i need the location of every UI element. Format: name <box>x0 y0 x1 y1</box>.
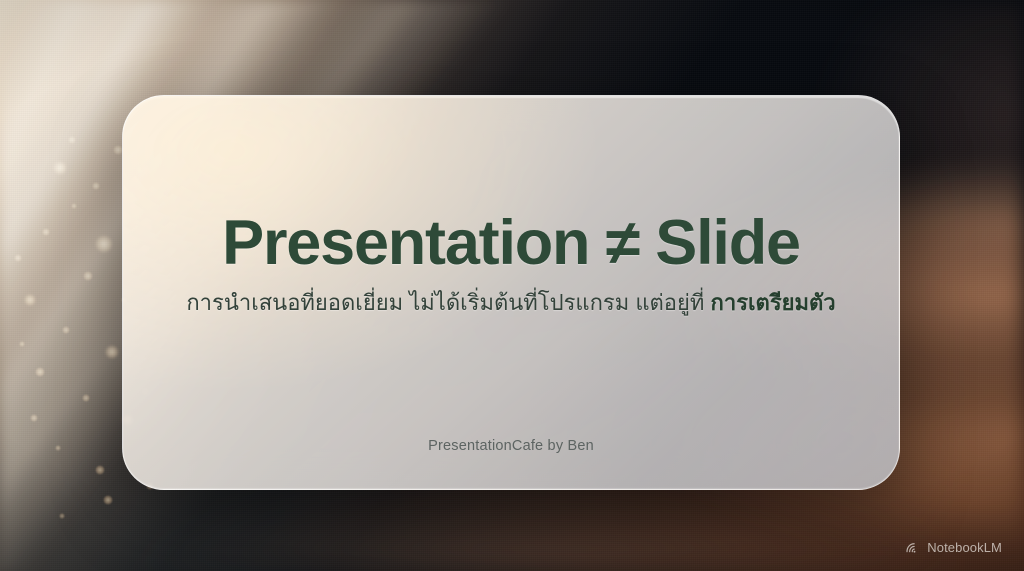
notebooklm-label: NotebookLM <box>927 540 1002 555</box>
card-content: Presentation ≠ Slide การนำเสนอที่ยอดเยี่… <box>123 96 899 489</box>
bokeh-particle <box>95 465 105 475</box>
bokeh-particle <box>103 495 113 505</box>
bokeh-particle <box>35 367 45 377</box>
bokeh-particle <box>62 326 70 334</box>
bokeh-particle <box>68 136 76 144</box>
glass-content-card: Presentation ≠ Slide การนำเสนอที่ยอดเยี่… <box>122 95 900 490</box>
bokeh-particle <box>83 271 93 281</box>
slide-footer-credit: PresentationCafe by Ben <box>123 438 899 454</box>
presentation-slide: Presentation ≠ Slide การนำเสนอที่ยอดเยี่… <box>0 0 1024 571</box>
bokeh-particle <box>30 414 38 422</box>
subheadline-emphasis-text: การเตรียมตัว <box>711 290 836 315</box>
bokeh-particle <box>19 341 25 347</box>
notebooklm-watermark: NotebookLM <box>905 540 1002 555</box>
bokeh-particle <box>59 513 65 519</box>
bokeh-particle <box>95 235 113 253</box>
slide-subheadline: การนำเสนอที่ยอดเยี่ยม ไม่ได้เริ่มต้นที่โ… <box>186 289 835 317</box>
bokeh-particle <box>55 445 61 451</box>
bokeh-particle <box>53 161 67 175</box>
subheadline-plain-text: การนำเสนอที่ยอดเยี่ยม ไม่ได้เริ่มต้นที่โ… <box>186 290 710 315</box>
bokeh-particle <box>82 394 90 402</box>
bokeh-particle <box>92 182 100 190</box>
bokeh-particle <box>14 254 22 262</box>
bokeh-particle <box>42 228 50 236</box>
notebooklm-spiral-icon <box>905 540 920 555</box>
bokeh-particle <box>71 203 77 209</box>
bokeh-particle <box>24 294 36 306</box>
slide-headline: Presentation ≠ Slide <box>222 212 800 275</box>
bokeh-particle <box>105 345 119 359</box>
